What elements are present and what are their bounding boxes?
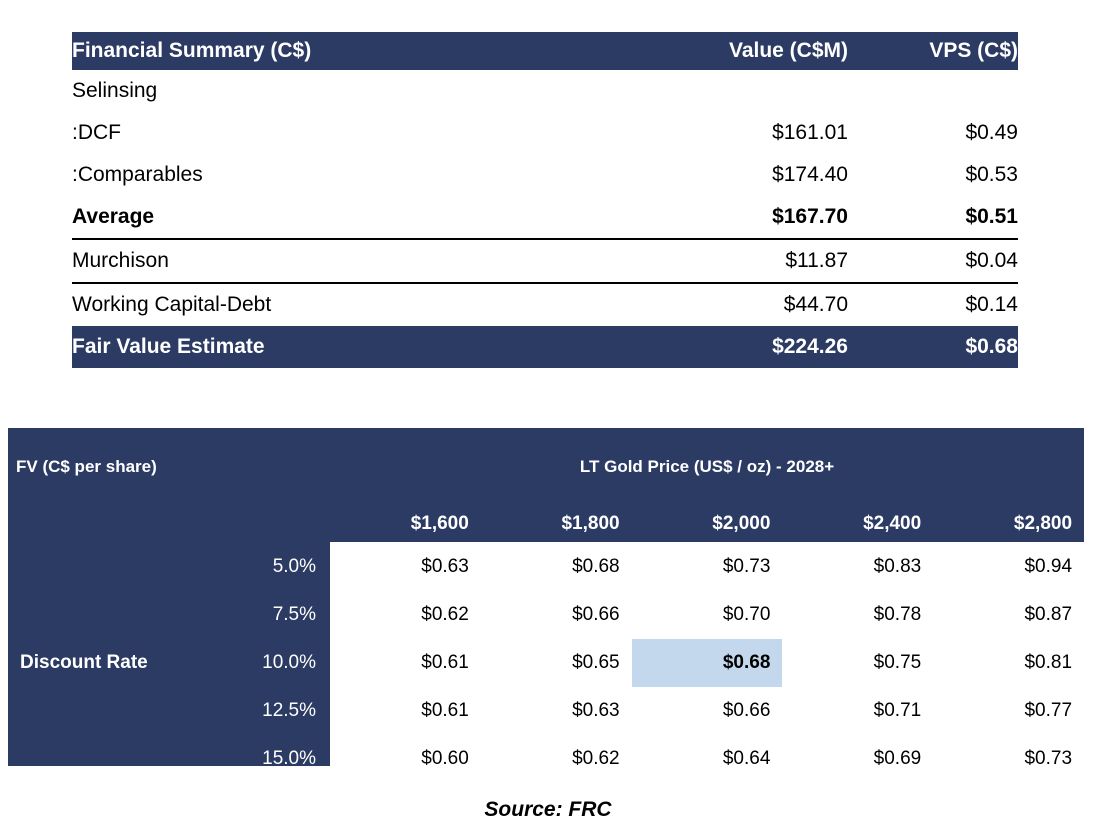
sensitivity-column-header-row: $1,600 $1,800 $2,000 $2,400 $2,800: [8, 506, 1084, 543]
summary-row-label: Selinsing: [72, 70, 618, 112]
sensitivity-cell: $0.83: [782, 543, 933, 592]
sensitivity-cell: $0.60: [330, 735, 481, 784]
sensitivity-row-header: 12.5%: [208, 687, 330, 735]
sensitivity-cell: $0.71: [782, 687, 933, 735]
summary-row-value: $161.01: [618, 112, 848, 154]
summary-row-vps: [848, 70, 1018, 112]
summary-header-value: Value (C$M): [618, 32, 848, 70]
sensitivity-cell-highlighted: $0.68: [632, 639, 783, 687]
sensitivity-body: 5.0%$0.63$0.68$0.73$0.83$0.947.5%$0.62$0…: [8, 543, 1084, 784]
sensitivity-row: Discount Rate10.0%$0.61$0.65$0.68$0.75$0…: [8, 639, 1084, 687]
sensitivity-row-axis-title: [8, 735, 208, 784]
sensitivity-col-header: $2,400: [782, 506, 933, 543]
summary-row-label: Average: [72, 196, 618, 239]
summary-row-label: :DCF: [72, 112, 618, 154]
financial-summary-grid: Financial Summary (C$) Value (C$M) VPS (…: [72, 32, 1018, 368]
sensitivity-row-axis-title: [8, 543, 208, 592]
sensitivity-cell: $0.65: [481, 639, 632, 687]
sensitivity-row: 5.0%$0.63$0.68$0.73$0.83$0.94: [8, 543, 1084, 592]
financial-summary-table: Financial Summary (C$) Value (C$M) VPS (…: [72, 32, 1018, 368]
summary-header-label: Financial Summary (C$): [72, 32, 618, 70]
summary-row-label: Murchison: [72, 239, 618, 283]
sensitivity-column-axis-title: LT Gold Price (US$ / oz) - 2028+: [330, 428, 1084, 506]
sensitivity-col-header: $2,800: [933, 506, 1084, 543]
sensitivity-cell: $0.63: [330, 543, 481, 592]
sensitivity-row: 15.0%$0.60$0.62$0.64$0.69$0.73: [8, 735, 1084, 784]
summary-row-vps: $0.04: [848, 239, 1018, 283]
total-value: $224.26: [618, 326, 848, 368]
sensitivity-header-spacer: [8, 506, 330, 543]
fair-value-total-row: Fair Value Estimate$224.26$0.68: [72, 326, 1018, 368]
sensitivity-cell: $0.62: [330, 591, 481, 639]
sensitivity-cell: $0.68: [481, 543, 632, 592]
sensitivity-title-row: FV (C$ per share) LT Gold Price (US$ / o…: [8, 428, 1084, 506]
sensitivity-cell: $0.61: [330, 687, 481, 735]
sensitivity-row-header: 10.0%: [208, 639, 330, 687]
table-row: :Comparables$174.40$0.53: [72, 154, 1018, 196]
table-row: Murchison$11.87$0.04: [72, 239, 1018, 283]
summary-row-label: :Comparables: [72, 154, 618, 196]
total-vps: $0.68: [848, 326, 1018, 368]
summary-row-value: $167.70: [618, 196, 848, 239]
sensitivity-cell: $0.62: [481, 735, 632, 784]
sensitivity-cell: $0.61: [330, 639, 481, 687]
sensitivity-col-header: $2,000: [632, 506, 783, 543]
sensitivity-cell: $0.75: [782, 639, 933, 687]
sensitivity-cell: $0.81: [933, 639, 1084, 687]
table-row: :DCF$161.01$0.49: [72, 112, 1018, 154]
sensitivity-cell: $0.73: [632, 543, 783, 592]
sensitivity-row-header: 7.5%: [208, 591, 330, 639]
sensitivity-cell: $0.78: [782, 591, 933, 639]
sensitivity-row: 7.5%$0.62$0.66$0.70$0.78$0.87: [8, 591, 1084, 639]
sensitivity-cell: $0.63: [481, 687, 632, 735]
summary-row-value: [618, 70, 848, 112]
sensitivity-cell: $0.66: [632, 687, 783, 735]
sensitivity-corner-label: FV (C$ per share): [8, 428, 330, 506]
sensitivity-cell: $0.77: [933, 687, 1084, 735]
sensitivity-cell: $0.87: [933, 591, 1084, 639]
sensitivity-col-header: $1,800: [481, 506, 632, 543]
summary-row-vps: $0.53: [848, 154, 1018, 196]
summary-row-vps: $0.49: [848, 112, 1018, 154]
summary-row-vps: $0.14: [848, 283, 1018, 326]
sensitivity-row: 12.5%$0.61$0.63$0.66$0.71$0.77: [8, 687, 1084, 735]
summary-row-value: $44.70: [618, 283, 848, 326]
sensitivity-cell: $0.70: [632, 591, 783, 639]
sensitivity-row-header: 15.0%: [208, 735, 330, 784]
sensitivity-cell: $0.73: [933, 735, 1084, 784]
sensitivity-row-axis-title: [8, 687, 208, 735]
sensitivity-cell: $0.94: [933, 543, 1084, 592]
summary-header-vps: VPS (C$): [848, 32, 1018, 70]
table-row: Selinsing: [72, 70, 1018, 112]
summary-row-vps: $0.51: [848, 196, 1018, 239]
sensitivity-row-axis-title: Discount Rate: [8, 639, 208, 687]
sensitivity-row-header: 5.0%: [208, 543, 330, 592]
sensitivity-cell: $0.66: [481, 591, 632, 639]
table-row: Working Capital-Debt$44.70$0.14: [72, 283, 1018, 326]
source-caption: Source: FRC: [0, 798, 1096, 822]
sensitivity-table: FV (C$ per share) LT Gold Price (US$ / o…: [8, 428, 1084, 766]
sensitivity-cell: $0.69: [782, 735, 933, 784]
summary-body: Selinsing:DCF$161.01$0.49:Comparables$17…: [72, 70, 1018, 368]
summary-header-row: Financial Summary (C$) Value (C$M) VPS (…: [72, 32, 1018, 70]
summary-row-value: $11.87: [618, 239, 848, 283]
sensitivity-col-header: $1,600: [330, 506, 481, 543]
sensitivity-grid: FV (C$ per share) LT Gold Price (US$ / o…: [8, 428, 1084, 784]
table-row: Average$167.70$0.51: [72, 196, 1018, 239]
sensitivity-row-axis-title: [8, 591, 208, 639]
summary-row-value: $174.40: [618, 154, 848, 196]
summary-row-label: Working Capital-Debt: [72, 283, 618, 326]
total-label: Fair Value Estimate: [72, 326, 618, 368]
sensitivity-cell: $0.64: [632, 735, 783, 784]
